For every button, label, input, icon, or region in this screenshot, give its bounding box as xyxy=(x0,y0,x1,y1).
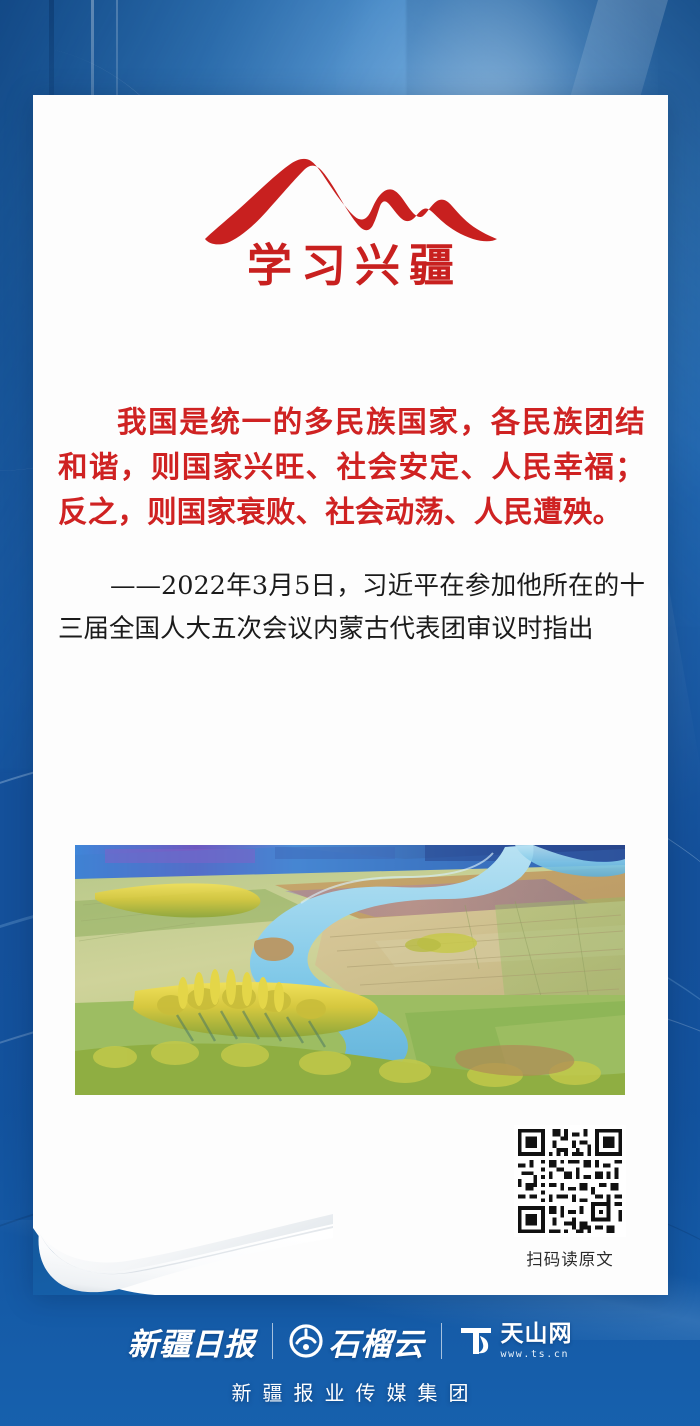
qr-code[interactable] xyxy=(514,1125,626,1237)
attribution-text: ——2022年3月5日，习近平在参加他所在的十三届全国人大五次会议内蒙古代表团审… xyxy=(58,565,645,651)
brand-logo-block: 学习兴疆 xyxy=(33,153,668,292)
tianshan-ts-mark xyxy=(458,1324,494,1358)
media-group-name: 新疆报业传媒集团 xyxy=(0,1377,700,1406)
shiliuyun-logo: 石榴云 xyxy=(329,1319,425,1364)
logo-xinjiang-daily[interactable]: 新疆日报 xyxy=(112,1319,272,1364)
qr-block: 扫码读原文 xyxy=(514,1125,626,1270)
footer-logo-row: 新疆日报 石榴云 xyxy=(0,1314,700,1368)
content-card-inner: 学习兴疆 我国是统一的多民族国家，各民族团结和谐，则国家兴旺、社会安定、人民幸福… xyxy=(33,95,668,1295)
logo-shiliuyun[interactable]: 石榴云 xyxy=(273,1319,441,1364)
landscape-photo xyxy=(75,845,625,1095)
mountain-range-icon xyxy=(201,153,501,245)
poster-root: 学习兴疆 我国是统一的多民族国家，各民族团结和谐，则国家兴旺、社会安定、人民幸福… xyxy=(0,0,700,1426)
content-card: 学习兴疆 我国是统一的多民族国家，各民族团结和谐，则国家兴旺、社会安定、人民幸福… xyxy=(33,95,668,1295)
qr-caption: 扫码读原文 xyxy=(514,1246,626,1270)
xinjiang-daily-logo: 新疆日报 xyxy=(128,1319,256,1364)
footer: 新疆日报 石榴云 xyxy=(0,1314,700,1406)
logo-tianshan[interactable]: 天山网 www.ts.cn xyxy=(442,1323,589,1360)
brand-title: 学习兴疆 xyxy=(33,239,668,292)
quote-text: 我国是统一的多民族国家，各民族团结和谐，则国家兴旺、社会安定、人民幸福；反之，则… xyxy=(58,400,645,535)
tianshan-url: www.ts.cn xyxy=(501,1350,573,1360)
tianshan-logo: 天山网 xyxy=(501,1321,573,1347)
pomegranate-cloud-icon xyxy=(289,1324,323,1358)
